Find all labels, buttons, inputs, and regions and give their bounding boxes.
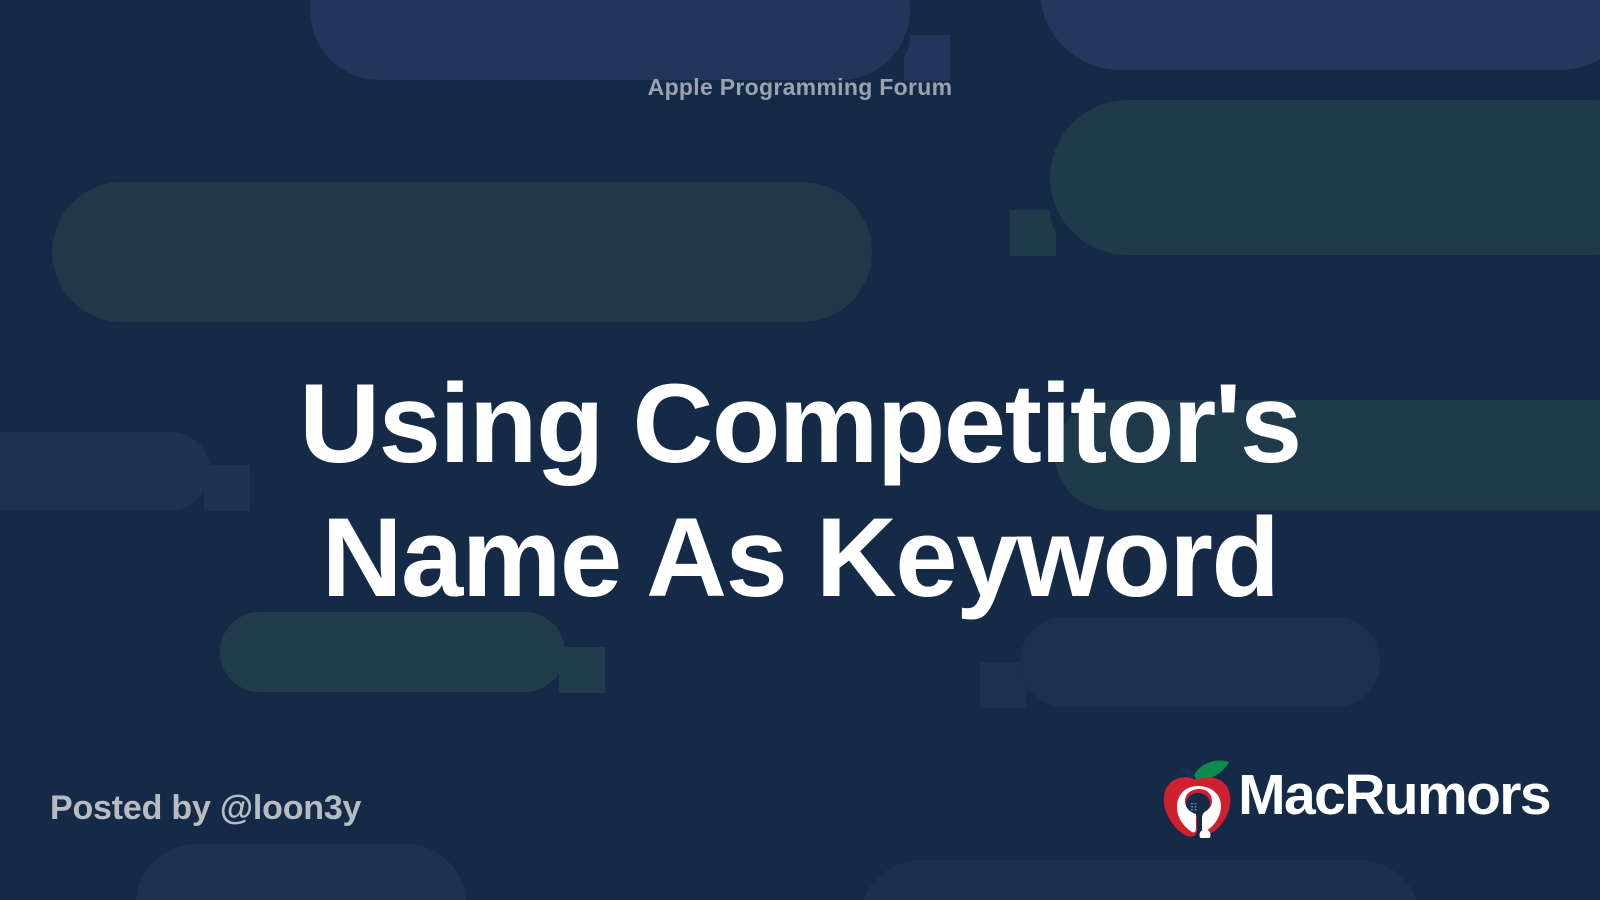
social-share-card: Apple Programming Forum Using Competitor… — [0, 0, 1600, 900]
macrumors-logo: MacRumors — [1160, 756, 1550, 838]
macrumors-wordmark: MacRumors — [1238, 767, 1550, 824]
page-title: Using Competitor's Name As Keyword — [0, 357, 1600, 626]
card-content: Apple Programming Forum Using Competitor… — [0, 0, 1600, 900]
author-byline: Posted by @loon3y — [50, 789, 361, 828]
forum-name: Apple Programming Forum — [0, 74, 1600, 101]
macrumors-apple-icon — [1160, 756, 1234, 838]
